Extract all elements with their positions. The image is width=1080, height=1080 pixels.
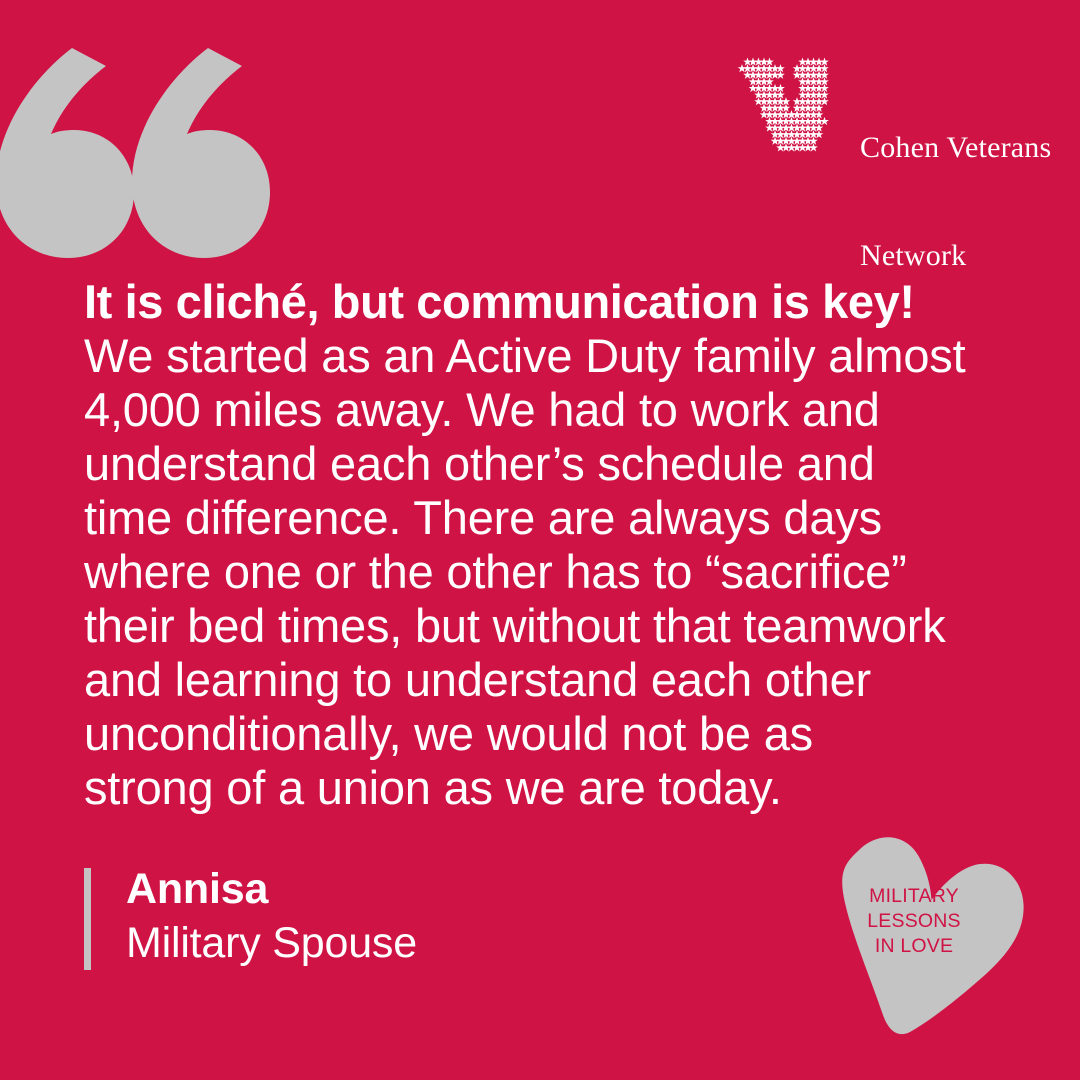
quote-line: understand each other’s schedule and	[84, 437, 1024, 491]
quote-line: We started as an Active Duty family almo…	[84, 329, 1024, 383]
attribution: Annisa Military Spouse	[84, 862, 417, 970]
quote-line: their bed times, but without that teamwo…	[84, 599, 1024, 653]
attribution-role: Military Spouse	[126, 916, 417, 970]
brand-wordmark-line-1: Cohen Veterans	[860, 130, 1051, 166]
attribution-divider	[84, 868, 91, 970]
brand-wordmark-line-2: Network	[860, 238, 1051, 274]
quote-card: Cohen Veterans Network It is cliché, but…	[0, 0, 1080, 1080]
heart-label-line: MILITARY	[838, 884, 990, 909]
brand-logo: Cohen Veterans Network	[736, 56, 1036, 160]
quote-line: 4,000 miles away. We had to work and	[84, 383, 1024, 437]
quote-line: It is cliché, but communication is key!	[84, 275, 1024, 329]
heart-badge: MILITARY LESSONS IN LOVE	[826, 826, 1036, 1042]
heart-badge-label: MILITARY LESSONS IN LOVE	[838, 884, 990, 959]
heart-label-line: IN LOVE	[838, 934, 990, 959]
star-v-logo-icon	[736, 56, 844, 156]
quote-text: It is cliché, but communication is key! …	[84, 275, 1024, 815]
attribution-name: Annisa	[126, 862, 417, 916]
quote-line: unconditionally, we would not be as	[84, 707, 1024, 761]
quote-line: where one or the other has to “sacrifice…	[84, 545, 1024, 599]
quote-line: and learning to understand each other	[84, 653, 1024, 707]
heart-label-line: LESSONS	[838, 909, 990, 934]
quotation-mark-icon	[0, 36, 272, 266]
attribution-text: Annisa Military Spouse	[126, 862, 417, 970]
quote-line: strong of a union as we are today.	[84, 761, 1024, 815]
quote-line: time difference. There are always days	[84, 491, 1024, 545]
